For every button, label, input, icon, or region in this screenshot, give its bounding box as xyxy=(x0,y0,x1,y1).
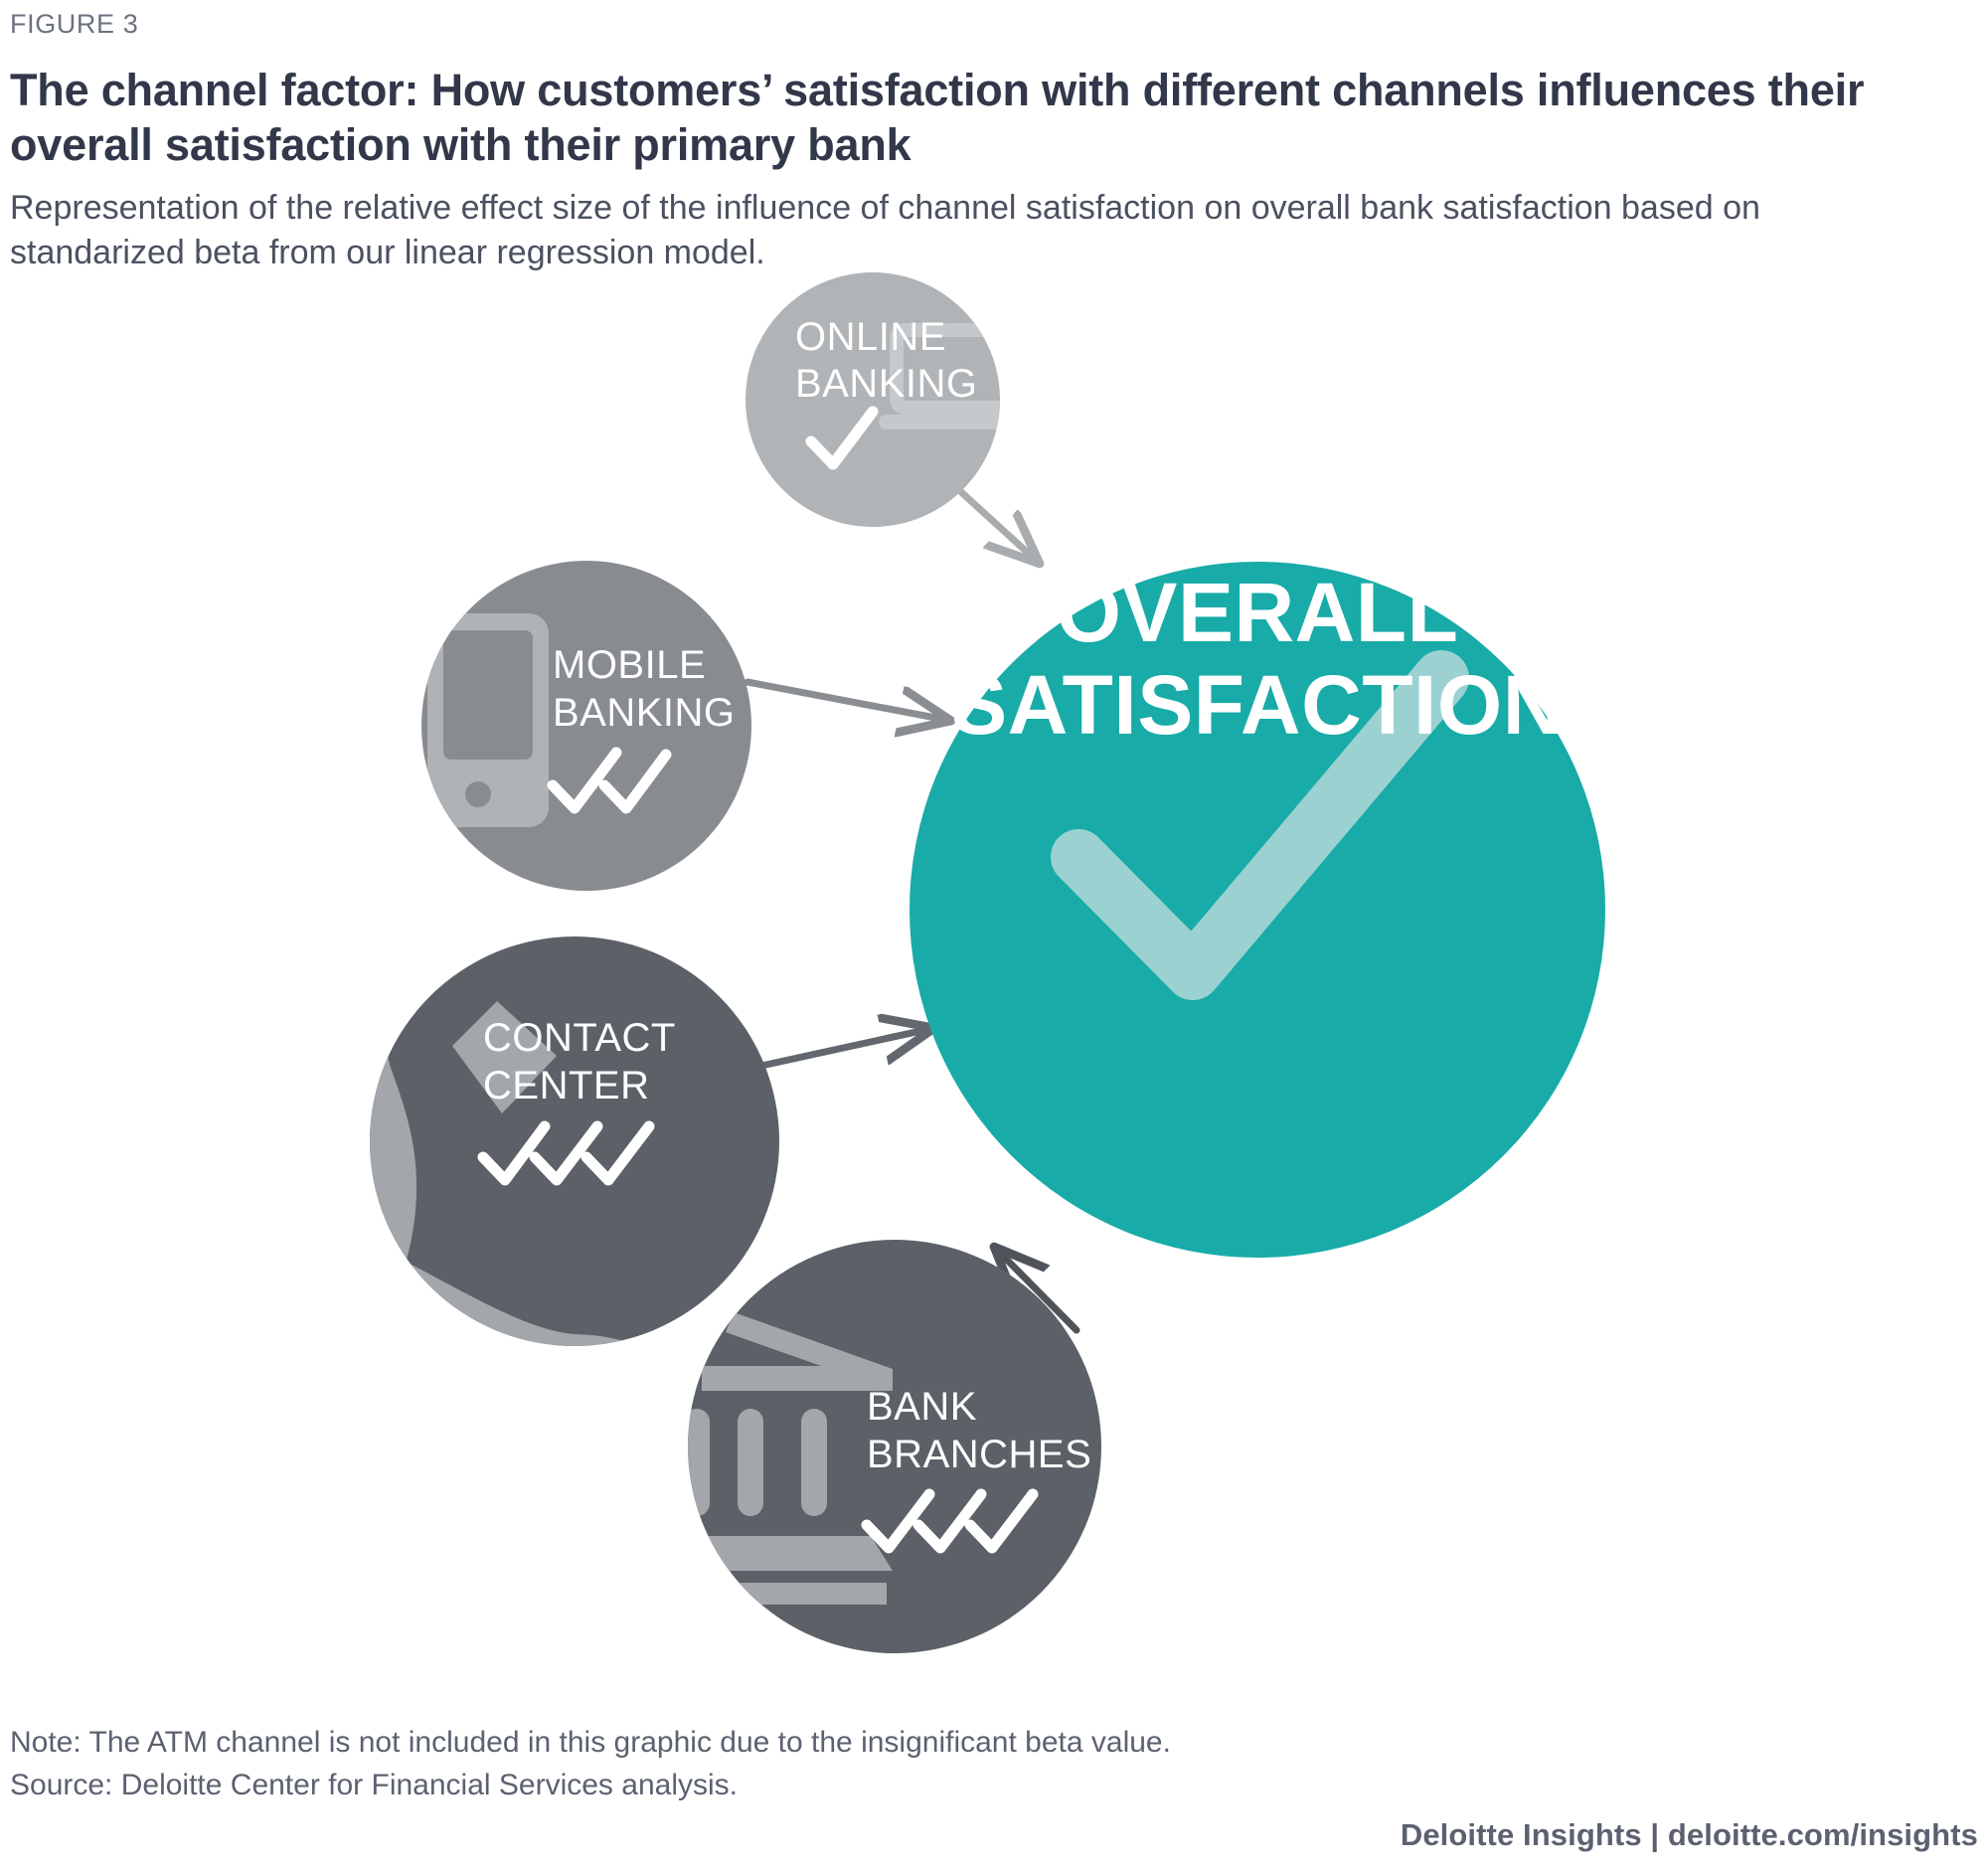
figure-page: FIGURE 3 The channel factor: How custome… xyxy=(0,0,1988,1873)
node-online-banking[interactable]: ONLINE BANKING xyxy=(745,272,1034,527)
arrow-contact-to-overall xyxy=(761,1028,934,1066)
contact-center-label-line1: CONTACT xyxy=(483,1016,676,1060)
contact-center-label-line2: CENTER xyxy=(483,1064,649,1107)
bank-branches-label-line1: BANK xyxy=(867,1385,977,1429)
node-bank-branches[interactable]: BANK BRANCHES xyxy=(684,1240,1101,1653)
channel-influence-diagram: OVERALL SATISFACTION ONLINE BANKING xyxy=(0,260,1988,1692)
note-text: Note: The ATM channel is not included in… xyxy=(10,1722,1978,1765)
bank-branches-label-line2: BRANCHES xyxy=(867,1433,1091,1476)
figure-number: FIGURE 3 xyxy=(10,10,1899,40)
figure-footer: Note: The ATM channel is not included in… xyxy=(10,1722,1978,1806)
figure-header: FIGURE 3 The channel factor: How custome… xyxy=(10,10,1899,275)
overall-satisfaction-label-line1: OVERALL xyxy=(1057,566,1459,659)
arrow-mobile-to-overall xyxy=(747,682,951,721)
node-overall-satisfaction[interactable]: OVERALL SATISFACTION xyxy=(910,562,1605,1258)
brand-attribution: Deloitte Insights | deloitte.com/insight… xyxy=(1401,1817,1978,1853)
source-text: Source: Deloitte Center for Financial Se… xyxy=(10,1765,1978,1807)
arrow-online-to-overall xyxy=(961,492,1040,564)
mobile-banking-label-line1: MOBILE xyxy=(553,643,706,687)
online-banking-label-line1: ONLINE xyxy=(795,315,946,359)
page-title: The channel factor: How customers’ satis… xyxy=(10,64,1879,173)
node-contact-center[interactable]: CONTACT CENTER xyxy=(315,936,779,1414)
overall-satisfaction-label-line2: SATISFACTION xyxy=(951,658,1564,752)
node-mobile-banking[interactable]: MOBILE BANKING xyxy=(421,561,751,891)
smartphone-icon xyxy=(427,613,549,827)
mobile-banking-label-line2: BANKING xyxy=(553,691,736,735)
online-banking-label-line2: BANKING xyxy=(795,362,978,406)
